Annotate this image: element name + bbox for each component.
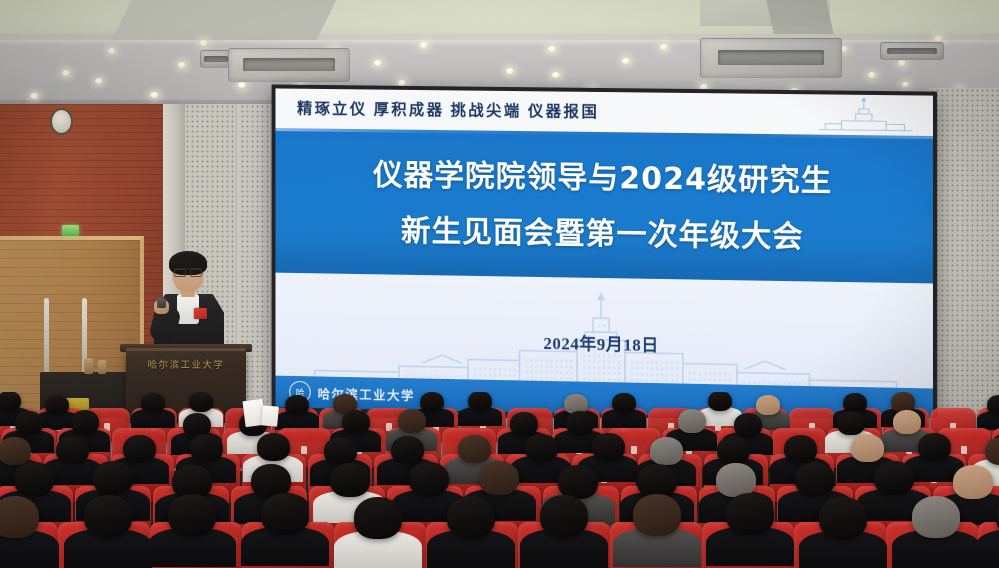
downlight-25 (868, 72, 876, 78)
audience (0, 392, 999, 568)
table-object-2 (98, 360, 106, 374)
audience-head-r2-c0 (0, 437, 31, 465)
ac-vent-center-left (228, 48, 350, 82)
building-outline-icon-small (817, 96, 914, 133)
slide-motto: 精琢立仪 厚积成器 挑战尖端 仪器报国 (297, 97, 599, 122)
downlight-16 (548, 46, 556, 52)
presentation-clicker (157, 298, 166, 308)
audience-head-r4-c5 (447, 496, 495, 538)
audience-head-r4-c4 (354, 497, 402, 539)
downlight-1 (62, 70, 70, 76)
presenter (150, 254, 226, 354)
audience-head-r3-c5 (409, 462, 449, 496)
audience-head-r2-c9 (592, 433, 625, 461)
audience-head-r0-c9 (420, 392, 444, 412)
presenter-badge (194, 308, 207, 319)
downlight-28 (902, 82, 909, 87)
audience-head-r4-c0 (0, 496, 39, 538)
audience-head-r3-c10 (795, 462, 835, 496)
presentation-slide: 精琢立仪 厚积成器 挑战尖端 仪器报国 (275, 88, 932, 420)
audience-head-r0-c19 (891, 392, 915, 412)
audience-head-r4-c9 (819, 497, 867, 539)
slide-title: 仪器学院院领导与2024级研究生 新生见面会暨第一次年级大会 (275, 147, 932, 268)
audience-head-r1-c1 (71, 410, 99, 434)
audience-head-r0-c1 (45, 395, 69, 415)
downlight-2 (95, 78, 103, 84)
audience-head-r4-c7 (633, 494, 681, 536)
audience-head-r1-c0 (15, 411, 43, 435)
audience-head-r0-c15 (708, 392, 732, 411)
audience-head-r2-c3 (190, 434, 223, 462)
exit-sign-icon (62, 225, 79, 236)
audience-head-r1-c16 (893, 410, 921, 434)
audience-head-r4-c8 (726, 493, 774, 535)
audience-head-r0-c18 (843, 393, 867, 413)
auditorium-photo: 精琢立仪 厚积成器 挑战尖端 仪器报国 (0, 0, 999, 568)
audience-head-r0-c16 (756, 395, 780, 415)
audience-head-r2-c8 (525, 434, 558, 462)
downlight-7 (238, 82, 246, 88)
ac-vent-center-right (700, 38, 842, 78)
audience-head-r0-c0 (0, 392, 21, 411)
audience-head-r2-c1 (56, 436, 89, 464)
audience-head-r4-c3 (261, 493, 309, 535)
audience-head-r2-c4 (257, 433, 290, 461)
downlight-19 (622, 58, 630, 64)
slide-title-line-1: 仪器学院院领导与2024级研究生 (275, 147, 932, 212)
ceiling-box-right (766, 0, 833, 34)
door-handle-left[interactable] (44, 298, 49, 376)
audience-head-r3-c4 (330, 463, 370, 497)
audience-head-r2-c14 (918, 433, 951, 461)
audience-head-r2-c12 (784, 435, 817, 463)
audience-head-r2-c13 (851, 434, 884, 462)
downlight-6 (200, 40, 208, 46)
handout-paper-2 (261, 405, 279, 426)
audience-head-r1-c13 (734, 413, 762, 437)
slide-title-band: 仪器学院院领导与2024级研究生 新生见面会暨第一次年级大会 (275, 131, 932, 283)
downlight-11 (374, 60, 382, 66)
downlight-5 (178, 62, 186, 68)
podium-engraving: 哈尔滨工业大学 (134, 357, 238, 371)
audience-head-r1-c10 (566, 411, 594, 435)
audience-head-r2-c6 (391, 436, 424, 464)
audience-head-r2-c5 (324, 437, 357, 465)
table-object-1 (84, 358, 93, 374)
audience-head-r1-c7 (398, 409, 426, 433)
audience-head-r3-c1 (93, 461, 133, 495)
audience-head-r0-c13 (612, 393, 636, 413)
downlight-20 (660, 44, 668, 50)
audience-head-r3-c12 (953, 465, 993, 499)
downlight-15 (506, 68, 514, 74)
audience-head-r0-c4 (189, 392, 213, 412)
audience-head-r2-c10 (650, 437, 683, 465)
downlight-3 (108, 48, 116, 54)
audience-head-r1-c9 (510, 412, 538, 436)
audience-head-r3-c6 (479, 461, 519, 495)
audience-head-r1-c15 (837, 411, 865, 435)
downlight-26 (898, 60, 906, 66)
audience-head-r3-c11 (874, 461, 914, 495)
ac-vent-right (880, 42, 944, 60)
audience-head-r4-c10 (912, 496, 960, 538)
audience-head-r0-c10 (468, 392, 492, 411)
audience-head-r4-c2 (168, 494, 216, 536)
audience-head-r0-c6 (285, 395, 309, 415)
audience-head-r2-c2 (123, 435, 156, 463)
audience-head-r4-c1 (84, 495, 132, 537)
audience-head-r0-c21 (987, 395, 999, 415)
audience-head-r3-c0 (14, 462, 54, 496)
glasses-icon (174, 268, 202, 276)
soffit-lip (0, 40, 999, 46)
downlight-17 (552, 72, 560, 78)
downlight-13 (420, 42, 428, 48)
audience-head-r2-c11 (717, 436, 750, 464)
wall-clock (50, 108, 73, 135)
audience-head-r4-c6 (540, 495, 588, 537)
projection-screen: 精琢立仪 厚积成器 挑战尖端 仪器报国 (272, 84, 937, 424)
audience-head-r1-c6 (342, 410, 370, 434)
audience-head-r0-c3 (141, 393, 165, 413)
slide-title-line-2: 新生见面会暨第一次年级大会 (275, 202, 932, 268)
audience-head-r1-c12 (678, 409, 706, 433)
audience-head-r2-c7 (458, 435, 491, 463)
